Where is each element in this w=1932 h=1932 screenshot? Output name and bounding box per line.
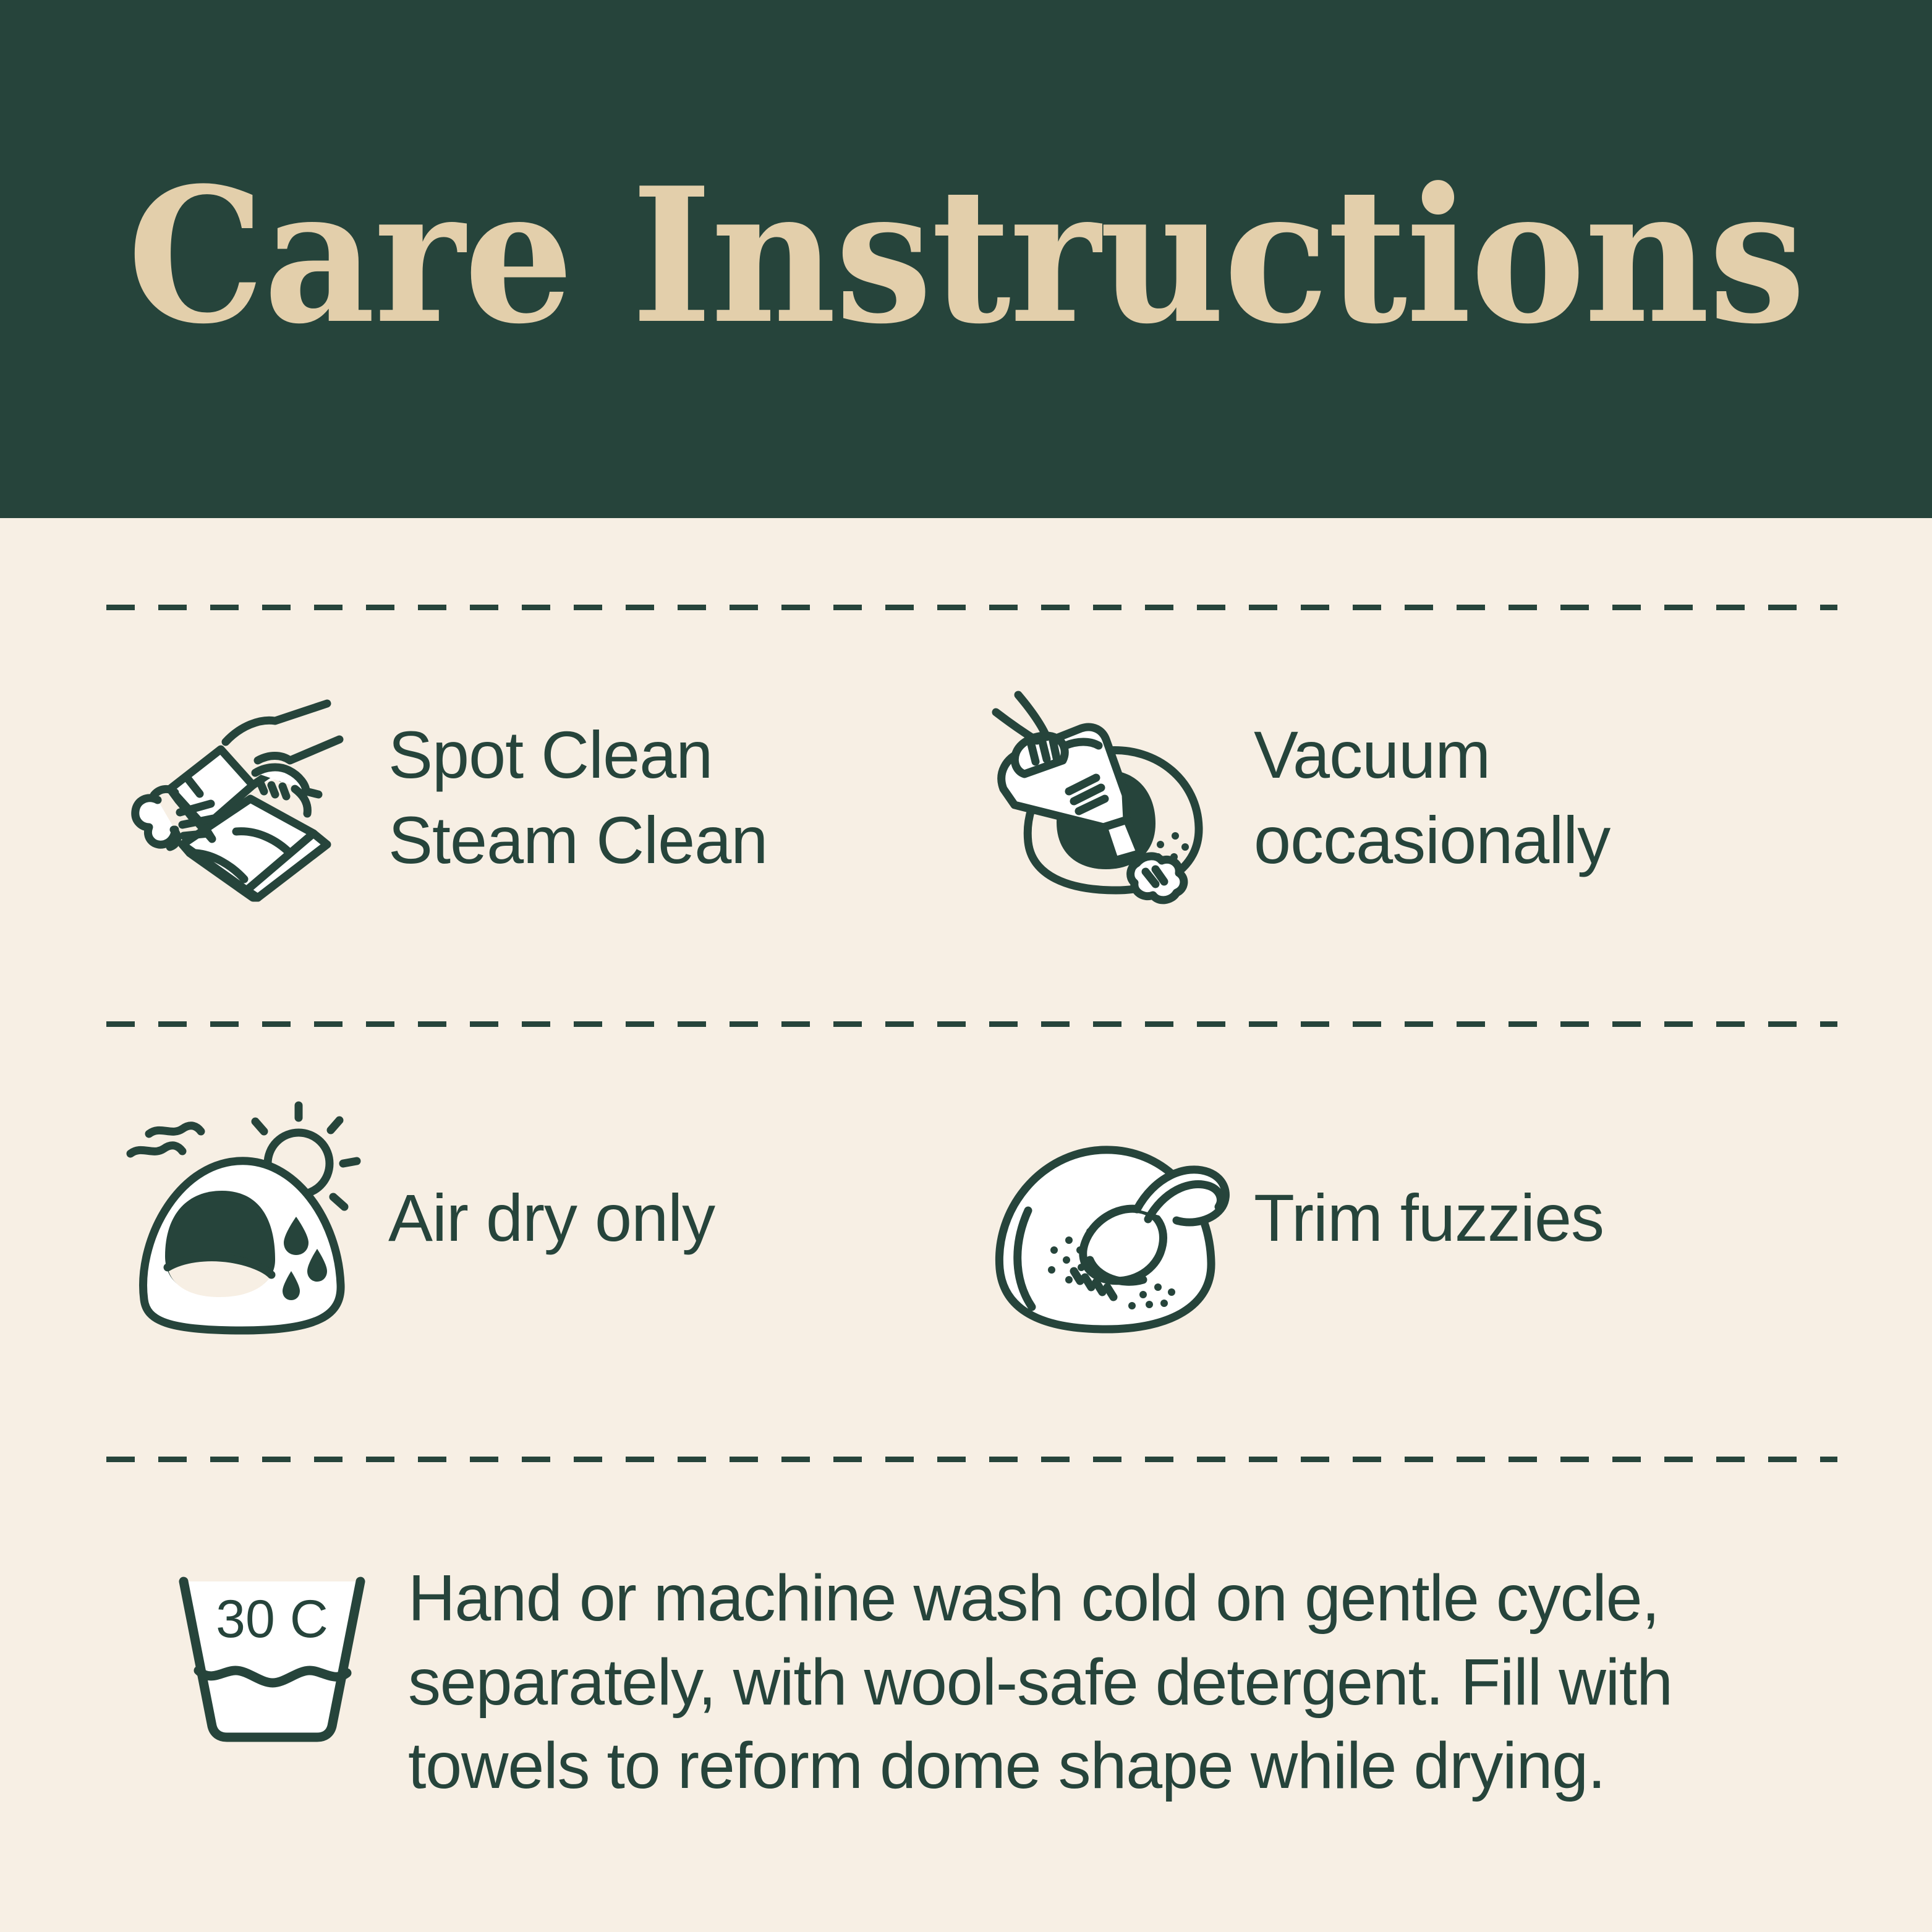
care-item-label-line1: Spot Clean [388,712,767,798]
divider-middle [106,1021,1837,1027]
care-item-label-line1: Trim fuzzies [1254,1175,1604,1261]
wash-text-line1: Hand or machine wash cold on gentle cycl… [408,1557,1672,1641]
care-row-1: Spot Clean Steam Clean [106,652,1837,943]
care-item-label: Air dry only [388,1175,715,1261]
care-item-air-dry: Air dry only [106,1073,972,1363]
care-item-vacuum: Vacuum occasionally [972,652,1837,943]
care-item-label-line2: occasionally [1254,798,1610,883]
care-item-label-line1: Air dry only [388,1175,715,1261]
divider-top [106,605,1837,610]
wash-instructions: 30 C Hand or machine wash cold on gentle… [142,1557,1849,1808]
care-item-trim-fuzzies: Trim fuzzies [972,1073,1837,1363]
care-item-label: Spot Clean Steam Clean [388,712,767,883]
handheld-vacuum-icon [972,665,1238,930]
care-item-label: Trim fuzzies [1254,1175,1604,1261]
wash-instructions-text: Hand or machine wash cold on gentle cycl… [408,1557,1672,1808]
wash-tub-icon: 30 C [142,1557,402,1753]
sun-air-dry-dome-icon [106,1085,372,1351]
spray-bottle-cloth-icon [106,665,372,930]
care-item-spot-clean: Spot Clean Steam Clean [106,652,972,943]
header-band: Care Instructions [0,0,1932,518]
wash-text-line3: towels to reform dome shape while drying… [408,1724,1672,1808]
wash-text-line2: separately, with wool-safe detergent. Fi… [408,1641,1672,1725]
wash-temperature-label: 30 C [216,1589,328,1649]
care-item-label-line1: Vacuum [1254,712,1610,798]
care-item-label: Vacuum occasionally [1254,712,1610,883]
care-row-2: Air dry only [106,1073,1837,1363]
fabric-shaver-dome-icon [972,1085,1238,1351]
divider-bottom [106,1457,1837,1462]
care-instructions-page: Care Instructions [0,0,1932,1932]
care-item-label-line2: Steam Clean [388,798,767,883]
page-title: Care Instructions [127,163,1805,349]
